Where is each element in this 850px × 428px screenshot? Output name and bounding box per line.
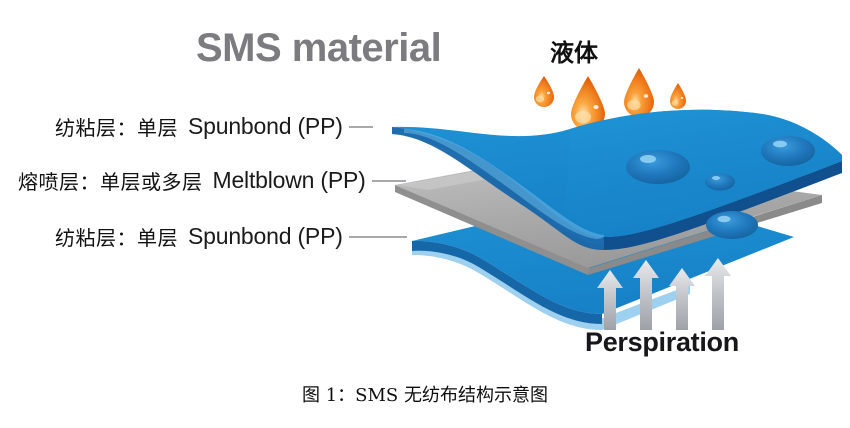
leader-line-spunbond-top xyxy=(349,126,373,128)
layer-cn-label-meltblown: 熔喷层：单层或多层 xyxy=(18,166,203,195)
layer-en-label-spunbond-top: Spunbond (PP) xyxy=(188,113,343,140)
arrow-up-2 xyxy=(633,260,659,330)
layer-cn-label-spunbond-top: 纺粘层：单层 xyxy=(55,112,178,141)
perspiration-arrow-group xyxy=(594,252,744,330)
layer-en-label-spunbond-bottom: Spunbond (PP) xyxy=(188,223,343,250)
page-title: SMS material xyxy=(196,26,441,71)
figure-caption: 图 1：SMS 无纺布结构示意图 xyxy=(0,381,850,407)
layer-cn-label-spunbond-bottom: 纺粘层：单层 xyxy=(55,222,178,251)
arrow-up-4 xyxy=(705,258,731,330)
arrow-up-1 xyxy=(597,270,623,330)
perspiration-label: Perspiration xyxy=(585,327,739,358)
layer-label-row-spunbond-top: 纺粘层：单层 Spunbond (PP) xyxy=(55,112,373,141)
layer-label-row-meltblown: 熔喷层：单层或多层 Meltblown (PP) xyxy=(18,166,406,195)
arrow-up-3 xyxy=(669,268,695,330)
sms-material-figure: SMS material 液体 xyxy=(0,0,850,428)
layer-label-row-spunbond-bottom: 纺粘层：单层 Spunbond (PP) xyxy=(55,222,407,251)
layer-en-label-meltblown: Meltblown (PP) xyxy=(213,167,366,194)
